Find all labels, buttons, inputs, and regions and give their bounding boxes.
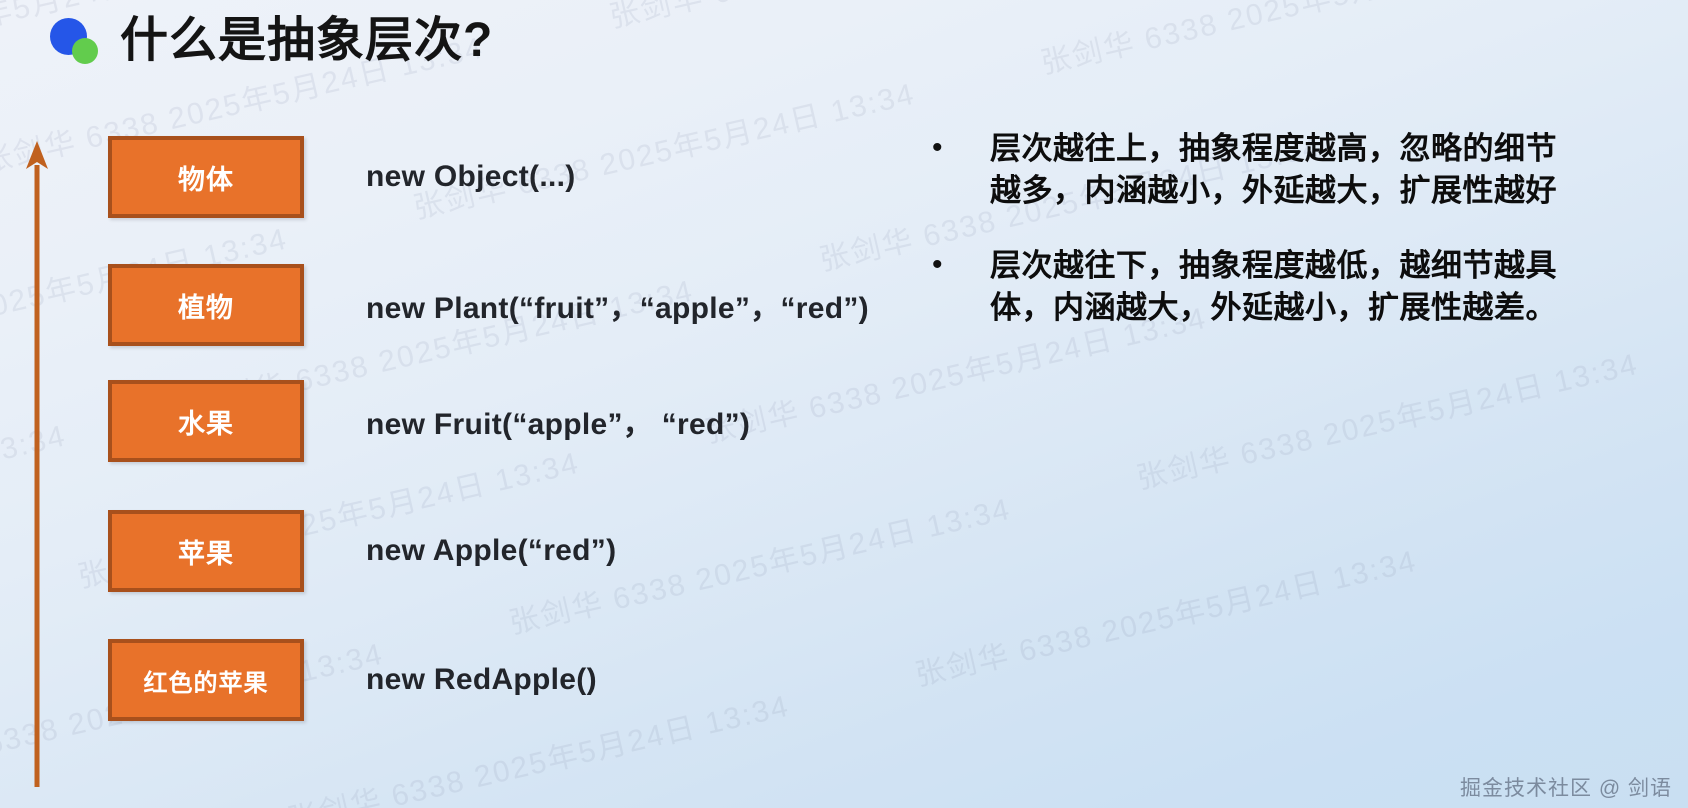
level-code-red-apple: new RedApple() xyxy=(366,663,597,697)
slide-canvas: 张剑华 6338 2025年5月24日 13:34 张剑华 6338 2025年… xyxy=(0,0,1688,808)
level-box-label: 苹果 xyxy=(178,532,234,571)
watermark-text: 张剑华 6338 2025年5月24日 13:34 xyxy=(606,0,1114,34)
watermark-text: 张剑华 6338 2025年5月24日 13:34 xyxy=(1133,348,1641,496)
ladder-rung: 红色的苹果 new RedApple() xyxy=(108,639,968,721)
page-title: 什么是抽象层次? xyxy=(120,17,493,65)
bullet-item-up: • 层次越往上，抽象程度越高，忽略的细节越多，内涵越小，外延越大，扩展性越好 xyxy=(920,128,1560,211)
bullet-text-down: 层次越往下，抽象程度越低，越细节越具体，内涵越大，外延越小，扩展性越差。 xyxy=(990,245,1560,328)
bullet-marker-icon: • xyxy=(920,245,990,285)
level-code-fruit: new Fruit(“apple”， “red”) xyxy=(366,399,750,443)
logo-dots-icon xyxy=(46,12,104,70)
level-code-plant: new Plant(“fruit”，“apple”，“red”) xyxy=(366,283,869,327)
ladder-rung: 物体 new Object(...) xyxy=(108,136,968,218)
level-box-object[interactable]: 物体 xyxy=(108,136,304,218)
green-dot-icon xyxy=(72,38,98,64)
level-code-apple: new Apple(“red”) xyxy=(366,534,616,568)
level-box-label: 红色的苹果 xyxy=(144,663,269,698)
ladder-rung: 水果 new Fruit(“apple”， “red”) xyxy=(108,380,968,462)
level-box-apple[interactable]: 苹果 xyxy=(108,510,304,592)
bullet-text-up: 层次越往上，抽象程度越高，忽略的细节越多，内涵越小，外延越大，扩展性越好 xyxy=(990,128,1560,211)
ladder-rung: 苹果 new Apple(“red”) xyxy=(108,510,968,592)
abstraction-up-arrow-icon xyxy=(24,139,50,791)
level-box-red-apple[interactable]: 红色的苹果 xyxy=(108,639,304,721)
level-box-label: 水果 xyxy=(178,402,234,441)
level-box-plant[interactable]: 植物 xyxy=(108,264,304,346)
slide-title-bar: 什么是抽象层次? xyxy=(46,12,493,70)
bullet-list: • 层次越往上，抽象程度越高，忽略的细节越多，内涵越小，外延越大，扩展性越好 •… xyxy=(920,128,1560,362)
bullet-marker-icon: • xyxy=(920,128,990,168)
watermark-text: 张剑华 6338 2025年5月24日 13:34 xyxy=(1038,0,1546,80)
ladder-rung: 植物 new Plant(“fruit”，“apple”，“red”) xyxy=(108,264,968,346)
level-code-object: new Object(...) xyxy=(366,160,576,194)
level-box-label: 植物 xyxy=(178,286,234,325)
bullet-item-down: • 层次越往下，抽象程度越低，越细节越具体，内涵越大，外延越小，扩展性越差。 xyxy=(920,245,1560,328)
level-box-label: 物体 xyxy=(178,158,234,197)
level-box-fruit[interactable]: 水果 xyxy=(108,380,304,462)
watermark-text: 张剑华 6338 2025年5月24日 13:34 xyxy=(912,545,1420,693)
footer-credit: 掘金技术社区 @ 剑语 xyxy=(1460,772,1672,802)
